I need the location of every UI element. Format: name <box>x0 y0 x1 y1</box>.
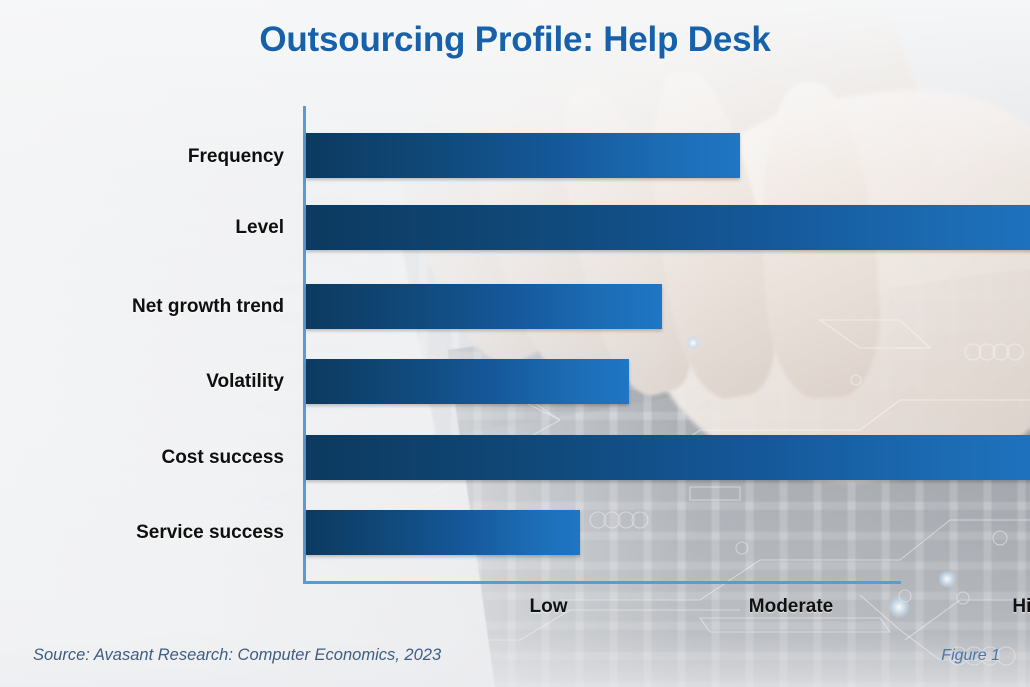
x-axis-line <box>303 581 901 584</box>
source-note: Source: Avasant Research: Computer Econo… <box>33 646 441 665</box>
bar-frequency <box>306 133 740 178</box>
x-tick-label-high: High <box>954 596 1030 618</box>
category-label-cost-success: Cost success <box>14 447 284 469</box>
bar-row-level[interactable] <box>306 205 1030 250</box>
x-tick-label-moderate: Moderate <box>711 596 871 618</box>
bar-chart: Frequency Level Net growth trend Volatil… <box>0 0 1030 687</box>
bar-row-net-growth-trend[interactable] <box>306 284 662 329</box>
bar-net-growth-trend <box>306 284 662 329</box>
bar-service-success <box>306 510 580 555</box>
category-label-frequency: Frequency <box>14 146 284 168</box>
slide: Outsourcing Profile: Help Desk Frequency… <box>0 0 1030 687</box>
bar-row-cost-success[interactable] <box>306 435 1030 480</box>
category-label-net-growth-trend: Net growth trend <box>14 296 284 318</box>
figure-caption: Figure 1 <box>941 647 1000 665</box>
bar-level <box>306 205 1030 250</box>
category-label-level: Level <box>14 217 284 239</box>
bar-row-volatility[interactable] <box>306 359 629 404</box>
bar-cost-success <box>306 435 1030 480</box>
bar-volatility <box>306 359 629 404</box>
bar-row-frequency[interactable] <box>306 133 740 178</box>
category-label-service-success: Service success <box>14 522 284 544</box>
bar-row-service-success[interactable] <box>306 510 580 555</box>
x-tick-label-low: Low <box>469 596 629 618</box>
category-label-volatility: Volatility <box>14 371 284 393</box>
